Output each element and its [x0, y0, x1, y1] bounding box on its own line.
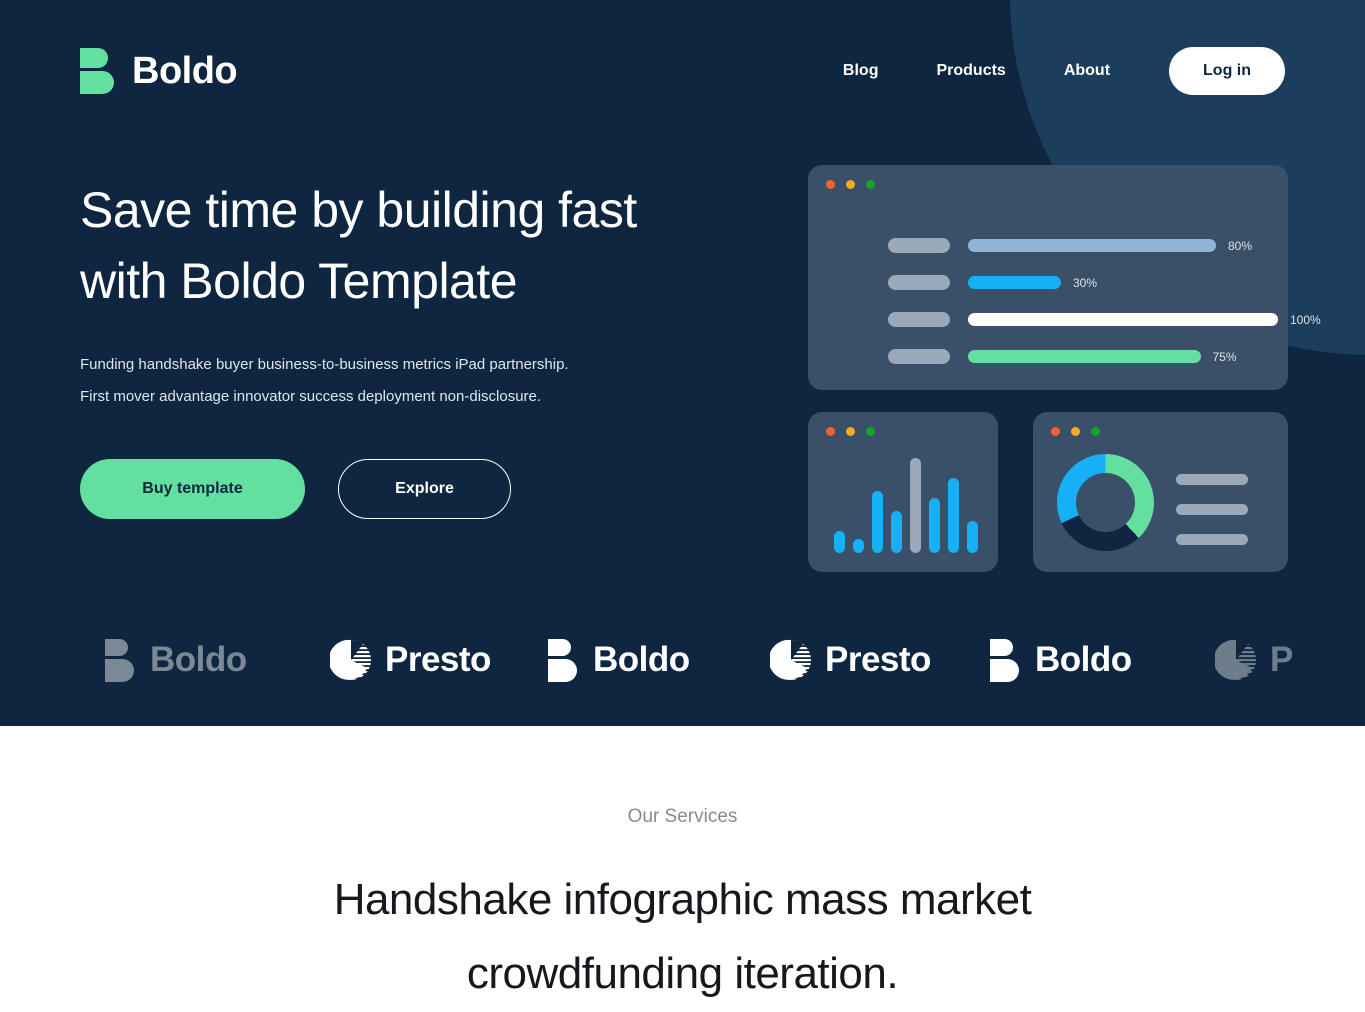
chart-bar [834, 531, 845, 553]
close-dot [826, 180, 835, 189]
nav-link-blog[interactable]: Blog [814, 62, 908, 80]
progress-fill [968, 239, 1216, 252]
progress-percent-label: 75% [1213, 350, 1237, 364]
donut-legend-line [1176, 474, 1248, 485]
hero-section: Boldo Blog Products About Log in Save ti… [0, 0, 1365, 726]
client-logo-label: Boldo [593, 640, 690, 680]
progress-track: 100% [968, 313, 1321, 327]
hero-title: Save time by building fast with Boldo Te… [80, 175, 700, 317]
bar-chart-card [808, 412, 998, 572]
client-logo: Presto [330, 639, 491, 681]
donut-legend [1176, 474, 1248, 545]
window-dots [826, 427, 875, 436]
chart-bar [910, 458, 921, 553]
progress-row-label-placeholder [888, 312, 950, 327]
chart-bar [872, 491, 883, 553]
boldo-logo-icon [80, 48, 118, 94]
progress-percent-label: 30% [1073, 276, 1097, 290]
dashboard-mockup: 80%30%100%75% [808, 165, 1288, 390]
donut-legend-line [1176, 504, 1248, 515]
donut-chart [1057, 454, 1154, 551]
client-logo-strip: BoldoPrestoBoldoPrestoBoldoP [0, 615, 1365, 705]
explore-button[interactable]: Explore [338, 459, 511, 519]
presto-logo-icon [330, 639, 372, 681]
client-logo-label: Presto [385, 640, 491, 680]
maximize-dot [1091, 427, 1100, 436]
progress-fill [968, 276, 1061, 289]
buy-template-button[interactable]: Buy template [80, 459, 305, 519]
donut-legend-line [1176, 534, 1248, 545]
client-logo-label: Presto [825, 640, 931, 680]
minimize-dot [1071, 427, 1080, 436]
chart-bar [891, 511, 902, 553]
hero-content: Save time by building fast with Boldo Te… [80, 175, 700, 519]
boldo-logo-icon [105, 639, 137, 682]
progress-track: 30% [968, 276, 1097, 290]
client-logo-label: Boldo [1035, 640, 1132, 680]
services-eyebrow: Our Services [0, 806, 1365, 828]
presto-logo-icon [770, 639, 812, 681]
services-section: Our Services Handshake infographic mass … [0, 726, 1365, 1012]
services-title: Handshake infographic mass market crowdf… [0, 863, 1365, 1011]
client-logo: P [1215, 639, 1293, 681]
hero-subtitle: Funding handshake buyer business-to-busi… [80, 349, 580, 414]
progress-track: 80% [968, 239, 1252, 253]
services-title-line-1: Handshake infographic mass market [334, 875, 1032, 924]
client-logo-label: Boldo [150, 640, 247, 680]
window-dots [1051, 427, 1100, 436]
progress-row: 30% [888, 264, 1288, 301]
progress-row: 80% [888, 227, 1288, 264]
client-logo: Boldo [990, 639, 1132, 682]
nav-link-about[interactable]: About [1035, 62, 1139, 80]
hero-cta-group: Buy template Explore [80, 459, 700, 519]
donut-chart-card [1033, 412, 1288, 572]
progress-row-label-placeholder [888, 275, 950, 290]
brand-name: Boldo [132, 50, 237, 93]
navbar: Boldo Blog Products About Log in [0, 0, 1365, 142]
client-logo-label: P [1270, 640, 1293, 680]
chart-bar [929, 498, 940, 553]
close-dot [1051, 427, 1060, 436]
progress-card: 80%30%100%75% [808, 165, 1288, 390]
boldo-logo-icon [548, 639, 580, 682]
boldo-logo-icon [990, 639, 1022, 682]
progress-fill [968, 350, 1201, 363]
progress-row: 100% [888, 301, 1288, 338]
chart-bar [948, 478, 959, 553]
chart-bar [967, 521, 978, 553]
progress-rows: 80%30%100%75% [888, 227, 1288, 375]
progress-row: 75% [888, 338, 1288, 375]
chart-bar [853, 539, 864, 553]
client-logo: Boldo [548, 639, 690, 682]
progress-percent-label: 80% [1228, 239, 1252, 253]
maximize-dot [866, 427, 875, 436]
minimize-dot [846, 180, 855, 189]
login-button[interactable]: Log in [1169, 47, 1285, 95]
client-logo: Boldo [105, 639, 247, 682]
maximize-dot [866, 180, 875, 189]
progress-fill [968, 313, 1278, 326]
presto-logo-icon [1215, 639, 1257, 681]
nav-link-products[interactable]: Products [907, 62, 1034, 80]
hero-title-line-2: with Boldo Template [80, 253, 517, 309]
client-logo: Presto [770, 639, 931, 681]
close-dot [826, 427, 835, 436]
progress-percent-label: 100% [1290, 313, 1321, 327]
hero-title-line-1: Save time by building fast [80, 182, 637, 238]
minimize-dot [846, 427, 855, 436]
progress-row-label-placeholder [888, 349, 950, 364]
nav-links: Blog Products About Log in [814, 47, 1285, 95]
brand-logo[interactable]: Boldo [80, 48, 237, 94]
window-dots [826, 180, 875, 189]
progress-row-label-placeholder [888, 238, 950, 253]
services-title-line-2: crowdfunding iteration. [467, 949, 898, 998]
chart-bars [834, 453, 978, 553]
progress-track: 75% [968, 350, 1237, 364]
